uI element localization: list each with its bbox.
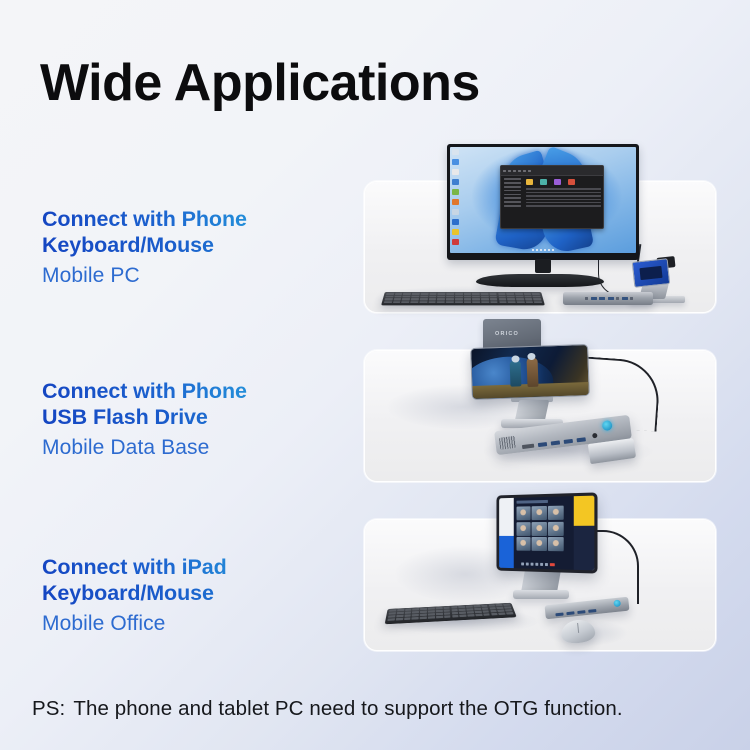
phone bbox=[632, 258, 671, 288]
folder-icons bbox=[526, 179, 602, 185]
monitor-screen bbox=[450, 147, 636, 253]
caption-1-subtitle: Mobile PC bbox=[42, 258, 342, 291]
scene-ipad-office bbox=[365, 520, 715, 650]
dock-vent bbox=[499, 436, 516, 450]
participant-tile bbox=[548, 522, 563, 536]
caption-3-subtitle: Mobile Office bbox=[42, 606, 342, 639]
footnote: PS:The phone and tablet PC need to suppo… bbox=[32, 697, 623, 721]
tablet-stand bbox=[513, 570, 569, 602]
power-indicator-icon bbox=[602, 420, 613, 431]
participant-tile bbox=[548, 506, 563, 520]
application-photo-card-1 bbox=[364, 181, 716, 313]
caption-2-line-1: Connect with Phone bbox=[42, 378, 342, 404]
participant-tile bbox=[548, 537, 563, 551]
file-explorer-content bbox=[524, 176, 604, 227]
stand-column bbox=[515, 400, 549, 421]
phone-landscape bbox=[470, 344, 590, 400]
file-explorer-toolbar bbox=[501, 166, 603, 176]
file-explorer-window bbox=[500, 165, 604, 229]
caption-3-line-1: Connect with iPad bbox=[42, 554, 342, 580]
scene-monitor-setup bbox=[365, 182, 715, 312]
caption-1-line-2: Keyboard/Mouse bbox=[42, 232, 342, 258]
file-explorer-sidebar bbox=[501, 176, 523, 227]
participant-tile bbox=[516, 507, 530, 521]
caption-2-subtitle: Mobile Data Base bbox=[42, 430, 342, 463]
caption-block-3: Connect with iPad Keyboard/Mouse Mobile … bbox=[42, 554, 342, 639]
caption-1-line-1: Connect with Phone bbox=[42, 206, 342, 232]
astronaut-figure bbox=[510, 360, 522, 386]
desktop-icons bbox=[452, 149, 461, 249]
windows-taskbar bbox=[530, 248, 556, 252]
monitor-base bbox=[476, 274, 604, 287]
monitor-neck bbox=[535, 259, 551, 273]
keyboard bbox=[381, 292, 545, 305]
page-title: Wide Applications bbox=[40, 57, 480, 109]
astronaut-figure bbox=[526, 357, 538, 386]
file-rows bbox=[526, 188, 602, 206]
video-participant-grid bbox=[516, 506, 563, 551]
participant-tile bbox=[532, 522, 547, 536]
ipad bbox=[496, 492, 597, 573]
footnote-text: The phone and tablet PC need to support … bbox=[73, 697, 622, 720]
participant-tile bbox=[516, 522, 530, 536]
tablet-stand-base bbox=[513, 590, 569, 599]
tablet-stand-column bbox=[521, 570, 561, 592]
application-photo-card-3 bbox=[364, 519, 716, 651]
scene-phone-flash-drive: ORICO bbox=[365, 351, 715, 481]
application-photo-card-2: ORICO bbox=[364, 350, 716, 482]
usb-c-dock bbox=[563, 292, 653, 305]
participant-tile bbox=[532, 537, 547, 551]
participant-tile bbox=[516, 537, 530, 551]
caption-block-2: Connect with Phone USB Flash Drive Mobil… bbox=[42, 378, 342, 463]
power-indicator-icon-3 bbox=[613, 599, 621, 607]
footnote-prefix: PS: bbox=[32, 697, 65, 720]
record-button-icon bbox=[549, 563, 554, 566]
participant-tile bbox=[532, 506, 547, 520]
accent-block-blue bbox=[499, 536, 513, 568]
audio-jack-port bbox=[592, 433, 598, 439]
accent-block-yellow bbox=[574, 496, 594, 526]
caption-2-line-2: USB Flash Drive bbox=[42, 404, 342, 430]
file-explorer-body bbox=[501, 176, 603, 227]
monitor bbox=[447, 144, 639, 260]
mouse-scroll-wheel bbox=[577, 623, 579, 633]
chat-sidebar bbox=[574, 526, 594, 571]
caption-3-line-2: Keyboard/Mouse bbox=[42, 580, 342, 606]
ipad-screen bbox=[499, 496, 594, 571]
brand-label: ORICO bbox=[495, 331, 519, 337]
caption-block-1: Connect with Phone Keyboard/Mouse Mobile… bbox=[42, 206, 342, 291]
